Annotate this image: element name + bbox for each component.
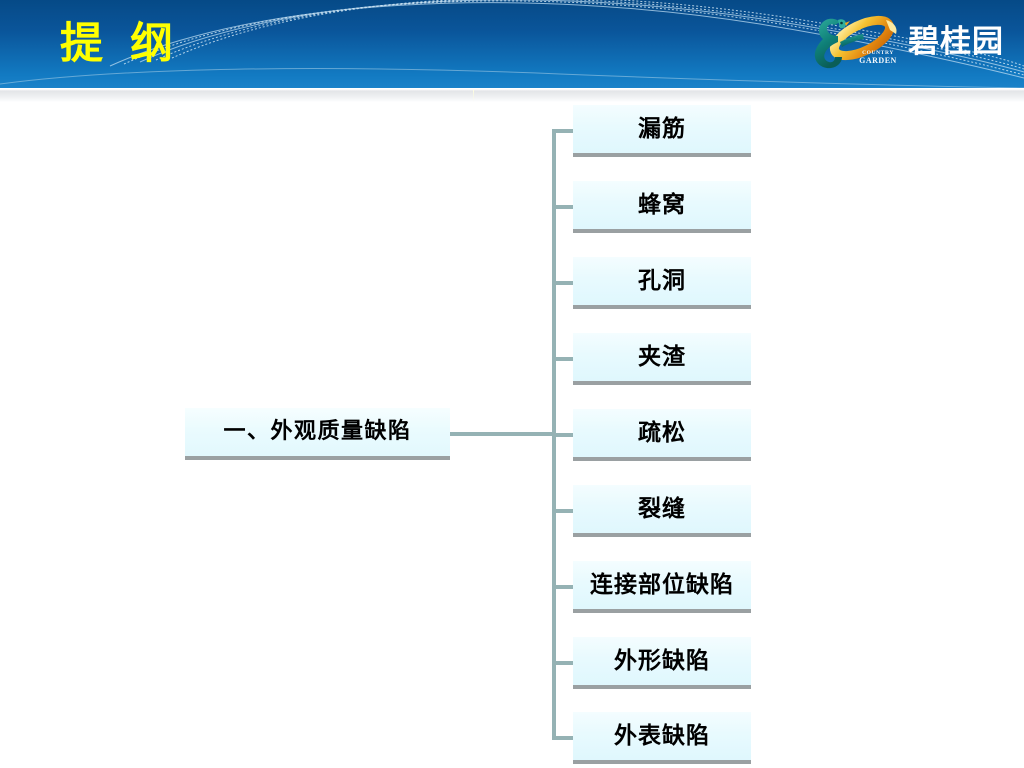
connector-branch-1 [552,129,574,133]
diagram-root-node[interactable]: 一、外观质量缺陷 [185,408,450,460]
diagram-branch-label-2: 蜂窝 [638,190,686,220]
connector-branch-4 [552,357,574,361]
diagram-branch-node-7[interactable]: 连接部位缺陷 [573,561,751,613]
diagram-branch-label-6: 裂缝 [638,494,686,524]
diagram-branch-label-8: 外形缺陷 [614,646,710,676]
diagram-branch-node-3[interactable]: 孔洞 [573,257,751,309]
diagram-branch-label-9: 外表缺陷 [614,721,710,751]
diagram-root-label: 一、外观质量缺陷 [223,417,411,447]
diagram-branch-node-5[interactable]: 疏松 [573,409,751,461]
diagram-branch-node-8[interactable]: 外形缺陷 [573,637,751,689]
connector-root-to-trunk [450,432,556,436]
diagram-branch-label-5: 疏松 [638,418,686,448]
connector-branch-6 [552,509,574,513]
brand-logo: COUNTRY GARDEN 碧桂园 [800,10,1000,80]
diagram-branch-node-9[interactable]: 外表缺陷 [573,712,751,764]
diagram-branch-label-4: 夹渣 [638,342,686,372]
brand-name: 碧桂园 [908,22,1004,62]
connector-branch-7 [552,585,574,589]
diagram-branch-label-3: 孔洞 [638,266,686,296]
diagram-branch-node-4[interactable]: 夹渣 [573,333,751,385]
outline-diagram: 一、外观质量缺陷 漏筋 蜂窝 孔洞 夹渣 疏松 裂缝 连接部位缺陷 外形缺陷 外… [0,0,1024,768]
brand-sub-line2: GARDEN [846,57,910,64]
connector-branch-5 [552,433,574,437]
diagram-branch-node-2[interactable]: 蜂窝 [573,181,751,233]
brand-sub-text: COUNTRY GARDEN [846,50,910,64]
connector-branch-2 [552,205,574,209]
diagram-branch-node-6[interactable]: 裂缝 [573,485,751,537]
connector-branch-9 [552,736,574,740]
page-title: 提 纲 [60,14,179,74]
diagram-branch-label-1: 漏筋 [638,114,686,144]
connector-branch-8 [552,661,574,665]
diagram-branch-label-7: 连接部位缺陷 [590,570,734,600]
connector-branch-3 [552,281,574,285]
diagram-branch-node-1[interactable]: 漏筋 [573,105,751,157]
